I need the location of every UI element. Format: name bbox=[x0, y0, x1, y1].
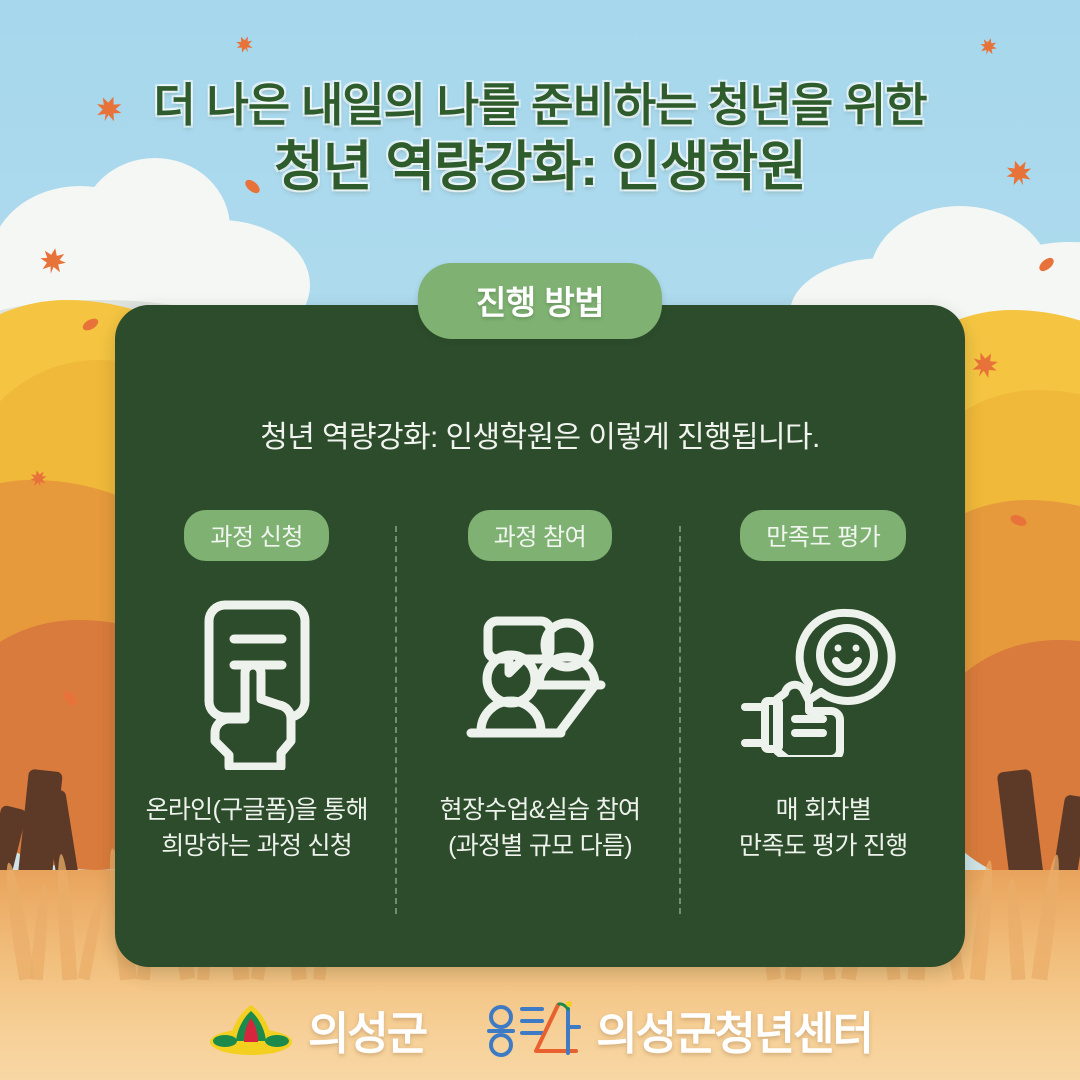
step-pill: 과정 참여 bbox=[468, 510, 613, 561]
step-pill-label: 과정 참여 bbox=[494, 524, 587, 551]
step-caption-line-2: 희망하는 과정 신청 bbox=[146, 829, 368, 865]
step-pill-label: 과정 신청 bbox=[210, 524, 303, 551]
procedure-card: 청년 역량강화: 인생학원은 이렇게 진행됩니다. 과정 신청 bbox=[115, 305, 965, 967]
step-item-evaluation: 만족도 평가 bbox=[682, 510, 965, 930]
step-caption-line-1: 매 회차별 bbox=[739, 793, 908, 829]
step-pill: 과정 신청 bbox=[184, 510, 329, 561]
step-caption: 온라인(구글폼)을 통해 희망하는 과정 신청 bbox=[146, 793, 368, 864]
step-item-application: 과정 신청 온라인(구글폼)을 통해 희망하는 과정 신청 bbox=[115, 510, 398, 930]
step-caption-line-2: (과정별 규모 다름) bbox=[440, 829, 641, 865]
youth-center-brand: 의성군청년센터 bbox=[484, 997, 872, 1062]
section-badge: 진행 방법 bbox=[418, 263, 662, 339]
title-line-2: 청년 역량강화: 인생학원 bbox=[0, 136, 1080, 200]
uiseong-hat-logo-icon bbox=[208, 1002, 294, 1058]
uiseong-county-label: 의성군 bbox=[308, 997, 426, 1062]
document-hand-icon bbox=[162, 587, 352, 777]
youth-center-label: 의성군청년센터 bbox=[596, 997, 872, 1062]
step-caption-line-1: 현장수업&실습 참여 bbox=[440, 793, 641, 829]
footer-brand-bar: 의성군 의성군청년센터 bbox=[0, 997, 1080, 1062]
people-speech-icon bbox=[445, 587, 635, 777]
lead-text: 청년 역량강화: 인생학원은 이렇게 진행됩니다. bbox=[115, 412, 965, 456]
step-caption-line-1: 온라인(구글폼)을 통해 bbox=[146, 793, 368, 829]
uiseong-county-brand: 의성군 bbox=[208, 997, 426, 1062]
section-badge-label: 진행 방법 bbox=[476, 284, 604, 321]
title-line-1: 더 나은 내일의 나를 준비하는 청년을 위한 bbox=[0, 78, 1080, 132]
step-pill-label: 만족도 평가 bbox=[766, 524, 880, 551]
thumbs-up-smiley-icon bbox=[728, 587, 918, 777]
step-caption: 매 회차별 만족도 평가 진행 bbox=[739, 793, 908, 864]
step-item-participation: 과정 참여 현장수업&실습 참여 ( bbox=[398, 510, 681, 930]
step-caption: 현장수업&실습 참여 (과정별 규모 다름) bbox=[440, 793, 641, 864]
yeonggeulda-logo-icon bbox=[484, 1001, 582, 1059]
poster-canvas: 더 나은 내일의 나를 준비하는 청년을 위한 청년 역량강화: 인생학원 진행… bbox=[0, 0, 1080, 1080]
step-caption-line-2: 만족도 평가 진행 bbox=[739, 829, 908, 865]
steps-row: 과정 신청 온라인(구글폼)을 통해 희망하는 과정 신청 bbox=[115, 510, 965, 930]
step-pill: 만족도 평가 bbox=[740, 510, 906, 561]
poster-title: 더 나은 내일의 나를 준비하는 청년을 위한 청년 역량강화: 인생학원 bbox=[0, 78, 1080, 200]
